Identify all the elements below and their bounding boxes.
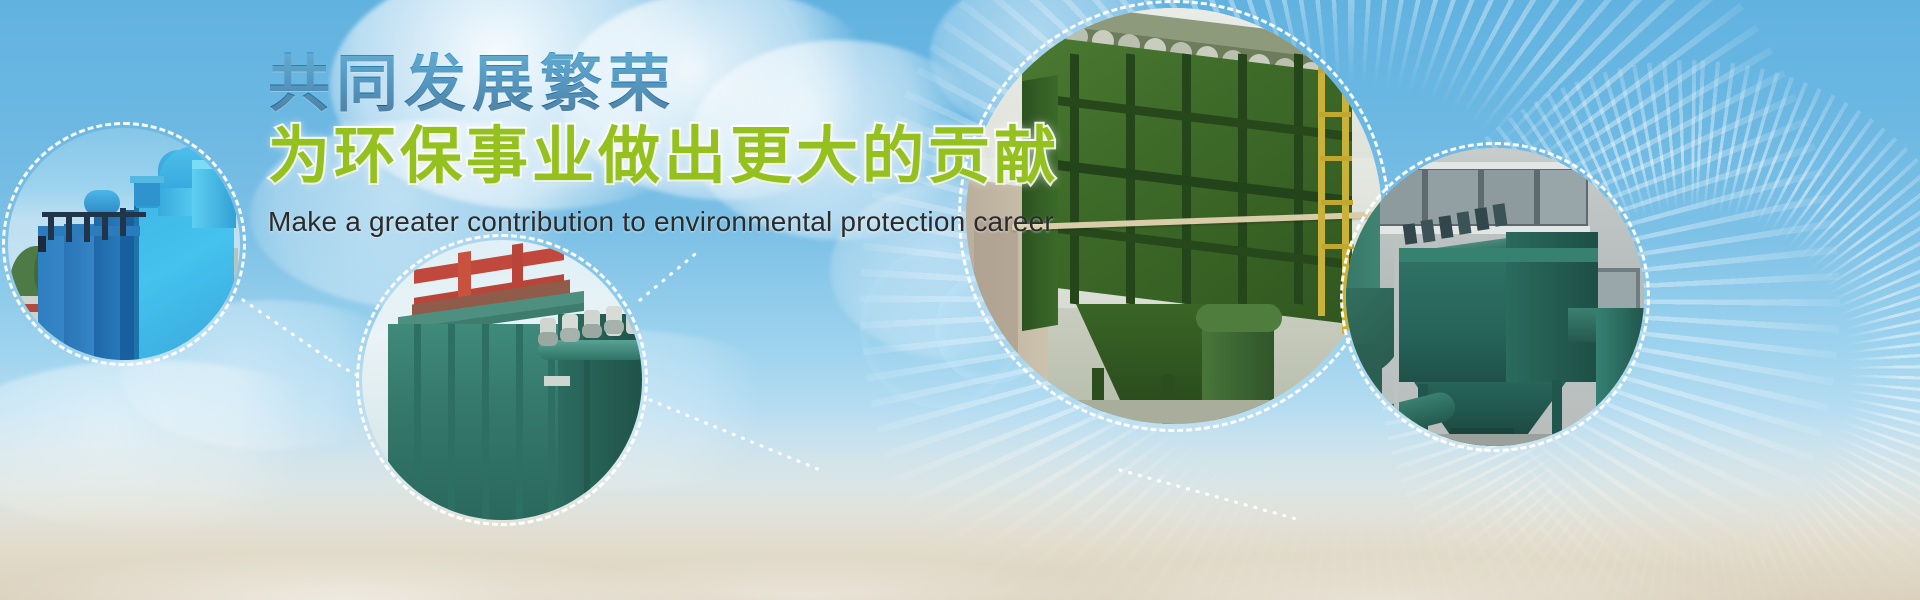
banner-copy-block: 共同发展繁荣 为环保事业做出更大的贡献 Make a greater contr… [268, 52, 968, 238]
photo-left-blue-dust-collector [8, 128, 240, 360]
headline-primary: 共同发展繁荣 [268, 52, 968, 118]
photo-right-green-collector [1346, 148, 1644, 446]
subtitle-english: Make a greater contribution to environme… [268, 205, 968, 239]
hero-banner: 共同发展繁荣 为环保事业做出更大的贡献 Make a greater contr… [0, 0, 1920, 600]
photo-center-teal-baghouse [362, 240, 642, 520]
headline-secondary: 为环保事业做出更大的贡献 [268, 124, 968, 191]
